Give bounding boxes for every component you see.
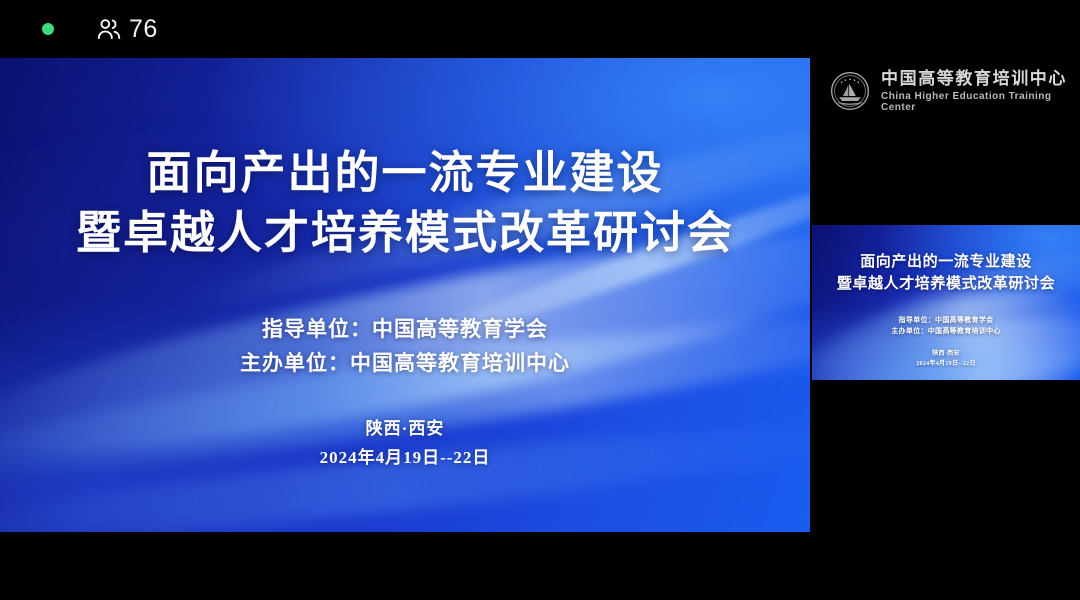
side-panel: 中国高等教育培训中心 China Higher Education Traini…	[812, 58, 1080, 600]
brand-name-cn: 中国高等教育培训中心	[881, 70, 1080, 89]
thumbnail-title: 面向产出的一流专业建设 暨卓越人才培养模式改革研讨会	[812, 252, 1080, 296]
speaker-thumbnail-tile[interactable]: 面向产出的一流专业建设 暨卓越人才培养模式改革研讨会 指导单位：中国高等教育学会…	[812, 225, 1080, 380]
brand-name-en: China Higher Education Training Center	[881, 91, 1080, 113]
thumbnail-dates: 2024年4月19日--22日	[812, 359, 1080, 369]
slide-organizations: 指导单位：中国高等教育学会 主办单位：中国高等教育培训中心	[0, 312, 810, 380]
slide-location: 陕西·西安	[0, 414, 810, 444]
thumbnail-location: 陕西·西安	[812, 349, 1080, 359]
participant-count-group[interactable]: 76	[96, 16, 158, 42]
thumbnail-host-org: 主办单位：中国高等教育培训中心	[812, 326, 1080, 337]
thumbnail-event-details: 陕西·西安 2024年4月19日--22日	[812, 349, 1080, 369]
thumbnail-content: 面向产出的一流专业建设 暨卓越人才培养模式改革研讨会 指导单位：中国高等教育学会…	[812, 225, 1080, 380]
thumbnail-organizations: 指导单位：中国高等教育学会 主办单位：中国高等教育培训中心	[812, 315, 1080, 337]
slide-title: 面向产出的一流专业建设 暨卓越人才培养模式改革研讨会	[0, 144, 810, 264]
slide-title-line-2: 暨卓越人才培养模式改革研讨会	[0, 204, 810, 264]
thumbnail-title-line-1: 面向产出的一流专业建设	[812, 252, 1080, 274]
sailing-ship-emblem-icon	[830, 71, 870, 111]
people-icon	[96, 16, 122, 42]
slide-content: 面向产出的一流专业建设 暨卓越人才培养模式改革研讨会 指导单位：中国高等教育学会…	[0, 58, 810, 532]
shared-screen-slide[interactable]: 面向产出的一流专业建设 暨卓越人才培养模式改革研讨会 指导单位：中国高等教育学会…	[0, 58, 810, 532]
brand-text: 中国高等教育培训中心 China Higher Education Traini…	[881, 70, 1080, 113]
brand-header: 中国高等教育培训中心 China Higher Education Traini…	[830, 70, 1080, 113]
slide-dates: 2024年4月19日--22日	[0, 443, 810, 473]
live-status-indicator	[42, 23, 54, 35]
thumbnail-title-line-2: 暨卓越人才培养模式改革研讨会	[812, 274, 1080, 296]
slide-event-details: 陕西·西安 2024年4月19日--22日	[0, 414, 810, 474]
participant-count-label: 76	[129, 17, 158, 42]
slide-guidance-org: 指导单位：中国高等教育学会	[0, 312, 810, 346]
meeting-topbar: 76	[0, 0, 1080, 58]
slide-host-org: 主办单位：中国高等教育培训中心	[0, 346, 810, 380]
slide-title-line-1: 面向产出的一流专业建设	[0, 144, 810, 204]
video-conference-screen: 76 面向产出的一流专业建设 暨卓越人才培养模式改革研讨会 指导单位：中国高等教…	[0, 0, 1080, 600]
thumbnail-guidance-org: 指导单位：中国高等教育学会	[812, 315, 1080, 326]
